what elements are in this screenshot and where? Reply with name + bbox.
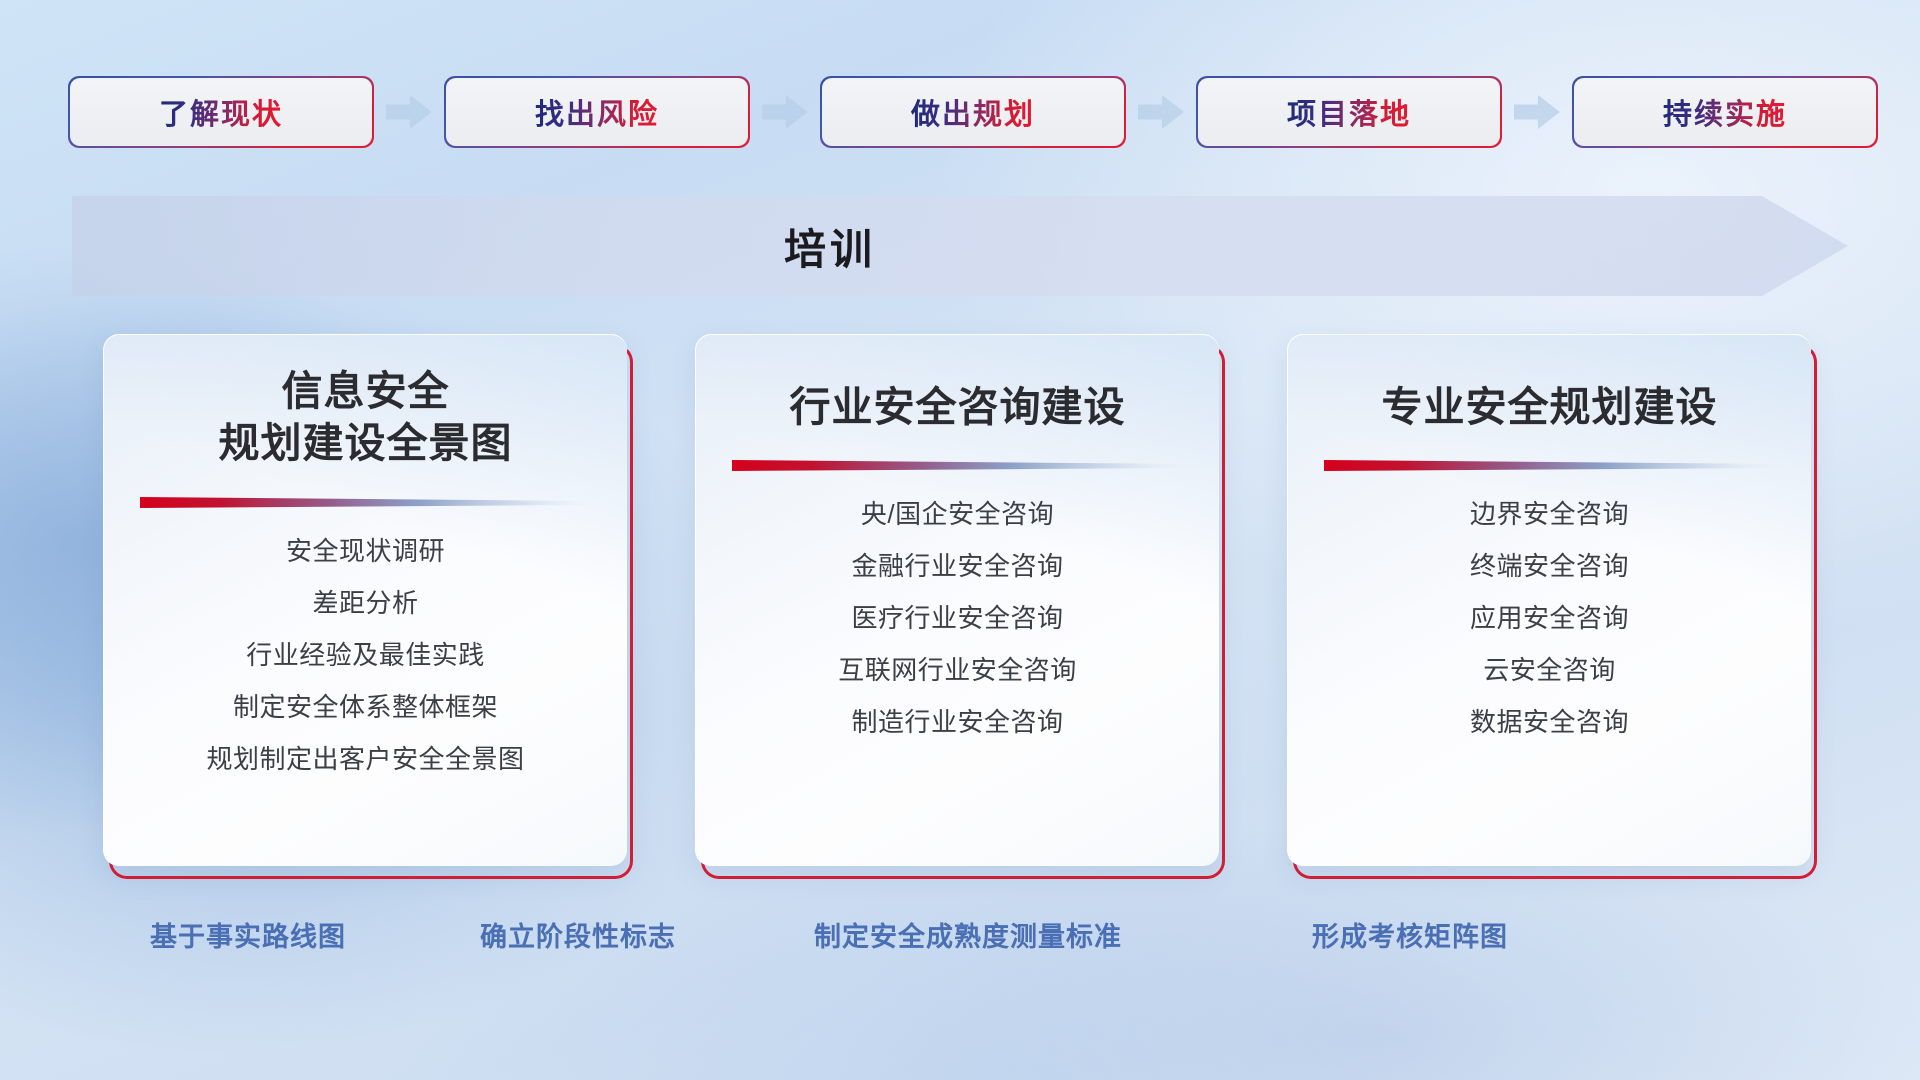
card-2[interactable]: 行业安全咨询建设 xyxy=(695,334,1219,866)
step-wrap-5: 持续实施 xyxy=(1574,78,1876,146)
card-title-line: 信息安全 xyxy=(104,365,627,417)
list-item: 应用安全咨询 xyxy=(1470,605,1629,631)
arrow-right-icon-2 xyxy=(762,95,808,129)
step-wrap-4: 项目落地 xyxy=(1198,78,1500,146)
card-title-1: 信息安全 规划建设全景图 xyxy=(104,365,627,470)
caption-row: 基于事实路线图 确立阶段性标志 制定安全成熟度测量标准 形成考核矩阵图 xyxy=(0,915,1920,965)
list-item: 制造行业安全咨询 xyxy=(851,709,1063,735)
card-slot-1: 信息安全 规划建设全景图 xyxy=(103,334,633,879)
card-slot-2: 行业安全咨询建设 xyxy=(695,334,1225,879)
list-item: 安全现状调研 xyxy=(286,538,445,564)
step-label-3: 做出规划 xyxy=(911,91,1035,133)
step-box-3[interactable]: 做出规划 xyxy=(822,78,1124,146)
caption-3: 制定安全成熟度测量标准 xyxy=(814,915,1122,954)
step-label-4: 项目落地 xyxy=(1287,91,1411,133)
step-label-2: 找出风险 xyxy=(535,91,659,133)
step-label-1: 了解现状 xyxy=(159,91,283,133)
step-wrap-3: 做出规划 xyxy=(822,78,1124,146)
list-item: 差距分析 xyxy=(312,590,418,616)
list-item: 医疗行业安全咨询 xyxy=(851,605,1063,631)
training-banner: 培训 xyxy=(72,196,1848,296)
list-item: 终端安全咨询 xyxy=(1470,553,1629,579)
card-title-2: 行业安全咨询建设 xyxy=(696,381,1219,433)
card-list-2: 央/国企安全咨询 金融行业安全咨询 医疗行业安全咨询 互联网行业安全咨询 制造行… xyxy=(696,501,1219,735)
caption-4: 形成考核矩阵图 xyxy=(1312,915,1508,954)
arrow-right-icon-4 xyxy=(1514,95,1560,129)
card-divider-2 xyxy=(732,459,1184,473)
card-slot-3: 专业安全规划建设 xyxy=(1287,334,1817,879)
step-box-5[interactable]: 持续实施 xyxy=(1574,78,1876,146)
list-item: 行业经验及最佳实践 xyxy=(246,642,485,668)
card-title-line: 行业安全咨询建设 xyxy=(696,381,1219,433)
step-wrap-1: 了解现状 xyxy=(70,78,372,146)
card-divider-1 xyxy=(140,496,592,510)
caption-1: 基于事实路线图 xyxy=(150,915,346,954)
card-title-line: 规划建设全景图 xyxy=(104,417,627,469)
card-1[interactable]: 信息安全 规划建设全景图 xyxy=(103,334,627,866)
card-title-line: 专业安全规划建设 xyxy=(1288,381,1811,433)
card-list-3: 边界安全咨询 终端安全咨询 应用安全咨询 云安全咨询 数据安全咨询 xyxy=(1288,501,1811,735)
card-list-1: 安全现状调研 差距分析 行业经验及最佳实践 制定安全体系整体框架 规划制定出客户… xyxy=(104,538,627,772)
list-item: 金融行业安全咨询 xyxy=(851,553,1063,579)
list-item: 边界安全咨询 xyxy=(1470,501,1629,527)
card-3[interactable]: 专业安全规划建设 xyxy=(1287,334,1811,866)
step-box-4[interactable]: 项目落地 xyxy=(1198,78,1500,146)
slide-canvas: 了解现状 找出风险 做出规划 项目落地 持续实施 xyxy=(0,0,1920,1080)
arrow-right-icon-1 xyxy=(386,95,432,129)
step-box-2[interactable]: 找出风险 xyxy=(446,78,748,146)
list-item: 数据安全咨询 xyxy=(1470,709,1629,735)
list-item: 制定安全体系整体框架 xyxy=(233,694,498,720)
card-title-3: 专业安全规划建设 xyxy=(1288,381,1811,433)
list-item: 规划制定出客户安全全景图 xyxy=(206,746,524,772)
process-step-row: 了解现状 找出风险 做出规划 项目落地 持续实施 xyxy=(70,78,1850,146)
list-item: 云安全咨询 xyxy=(1483,657,1616,683)
training-banner-label: 培训 xyxy=(784,216,876,277)
caption-2: 确立阶段性标志 xyxy=(480,915,676,954)
list-item: 互联网行业安全咨询 xyxy=(838,657,1077,683)
step-wrap-2: 找出风险 xyxy=(446,78,748,146)
arrow-right-icon-3 xyxy=(1138,95,1184,129)
card-divider-3 xyxy=(1324,459,1776,473)
step-box-1[interactable]: 了解现状 xyxy=(70,78,372,146)
list-item: 央/国企安全咨询 xyxy=(861,501,1054,527)
step-label-5: 持续实施 xyxy=(1663,91,1787,133)
card-row: 信息安全 规划建设全景图 xyxy=(0,334,1920,894)
